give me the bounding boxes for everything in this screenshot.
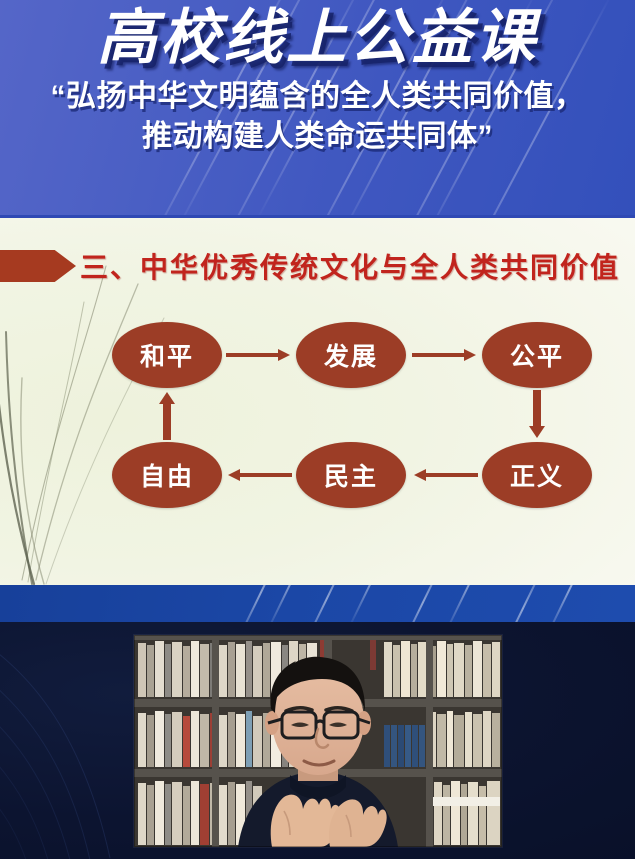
lower-blue-band (0, 585, 635, 622)
stream-screenshot: 高校线上公益课 “弘扬中华文明蕴含的全人类共同价值， 推动构建人类命运共同体” … (0, 0, 635, 859)
video-panel[interactable] (134, 635, 502, 847)
arrow-fazhan-to-gongping (412, 344, 478, 366)
program-title: 高校线上公益课 (0, 0, 635, 71)
arrow-gongping-to-zhengyi (526, 390, 548, 440)
presentation-slide: 三、中华优秀传统文化与全人类共同价值 和平 发展 公平 自由 民主 正义 (0, 218, 635, 585)
slide-heading-text: 三、中华优秀传统文化与全人类共同价值 (80, 246, 620, 286)
node-fazhan: 发展 (296, 322, 406, 388)
arrow-minzhu-to-ziyou (226, 464, 292, 486)
node-gongping: 公平 (482, 322, 592, 388)
video-frame (134, 635, 502, 847)
core-values-cycle-diagram: 和平 发展 公平 自由 民主 正义 (0, 314, 635, 544)
arrow-heping-to-fazhan (226, 344, 292, 366)
program-subtitle: “弘扬中华文明蕴含的全人类共同价值， 推动构建人类命运共同体” (0, 71, 635, 157)
node-heping: 和平 (112, 322, 222, 388)
arrow-zhengyi-to-minzhu (412, 464, 478, 486)
node-zhengyi: 正义 (482, 442, 592, 508)
node-ziyou: 自由 (112, 442, 222, 508)
speaker-video-area (0, 622, 635, 859)
program-header-banner: 高校线上公益课 “弘扬中华文明蕴含的全人类共同价值， 推动构建人类命运共同体” (0, 0, 635, 218)
node-minzhu: 民主 (296, 442, 406, 508)
subtitle-line-1: “弘扬中华文明蕴含的全人类共同价值， (0, 77, 635, 117)
arrow-ziyou-to-heping (156, 390, 178, 440)
arrow-banner-icon (0, 250, 76, 282)
header-bottom-rule (0, 215, 635, 218)
slide-heading-row: 三、中华优秀传统文化与全人类共同价值 (0, 242, 635, 290)
subtitle-line-2: 推动构建人类命运共同体” (0, 117, 635, 157)
